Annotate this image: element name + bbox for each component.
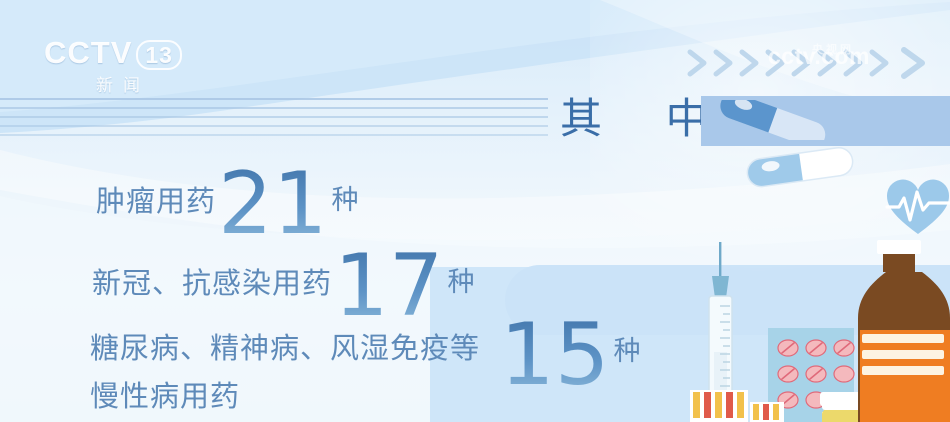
stat-unit: 种 — [447, 267, 474, 297]
cctv-watermark: 央视网 cctv.com — [768, 38, 928, 74]
medicine-illustration — [690, 240, 950, 422]
stat-value: 15 — [498, 305, 611, 405]
watermark-cn-text: 央视网 — [812, 32, 854, 68]
pill-strip-icon — [690, 390, 748, 422]
stat-value: 17 — [332, 236, 445, 336]
stripe-decoration — [0, 98, 548, 138]
stat-label-line1: 糖尿病、精神病、风湿免疫等 — [90, 331, 480, 365]
stat-label-line2: 慢性病用药 — [90, 373, 480, 415]
cctv13-logo: CCTV13 新闻 — [44, 36, 194, 94]
capsule-pill-icon — [716, 100, 834, 140]
stat-label: 肿瘤用药 — [96, 184, 216, 218]
broadcast-graphic: CCTV13 新闻 央视网 cctv.com 其 中 — [0, 0, 950, 422]
stat-unit: 种 — [613, 336, 640, 366]
logo-subtitle: 新闻 — [44, 71, 194, 96]
capsule-pill-icon — [745, 145, 857, 189]
logo-channel-number: 13 — [136, 40, 182, 70]
logo-cctv-text: CCTV — [44, 35, 132, 70]
heart-ecg-icon — [885, 176, 950, 238]
pill-strip-icon — [750, 402, 784, 422]
stat-row: 新冠、抗感染用药17种 — [92, 250, 474, 322]
stat-row: 肿瘤用药21种 — [96, 168, 358, 240]
stat-unit: 种 — [331, 185, 358, 215]
stat-row: 糖尿病、精神病、风湿免疫等 慢性病用药 15种 — [90, 325, 480, 415]
stat-label: 新冠、抗感染用药 — [92, 266, 332, 300]
stat-value: 21 — [216, 154, 329, 254]
logo-wordmark: CCTV13 — [44, 36, 194, 70]
medicine-bottle-icon — [858, 240, 950, 422]
